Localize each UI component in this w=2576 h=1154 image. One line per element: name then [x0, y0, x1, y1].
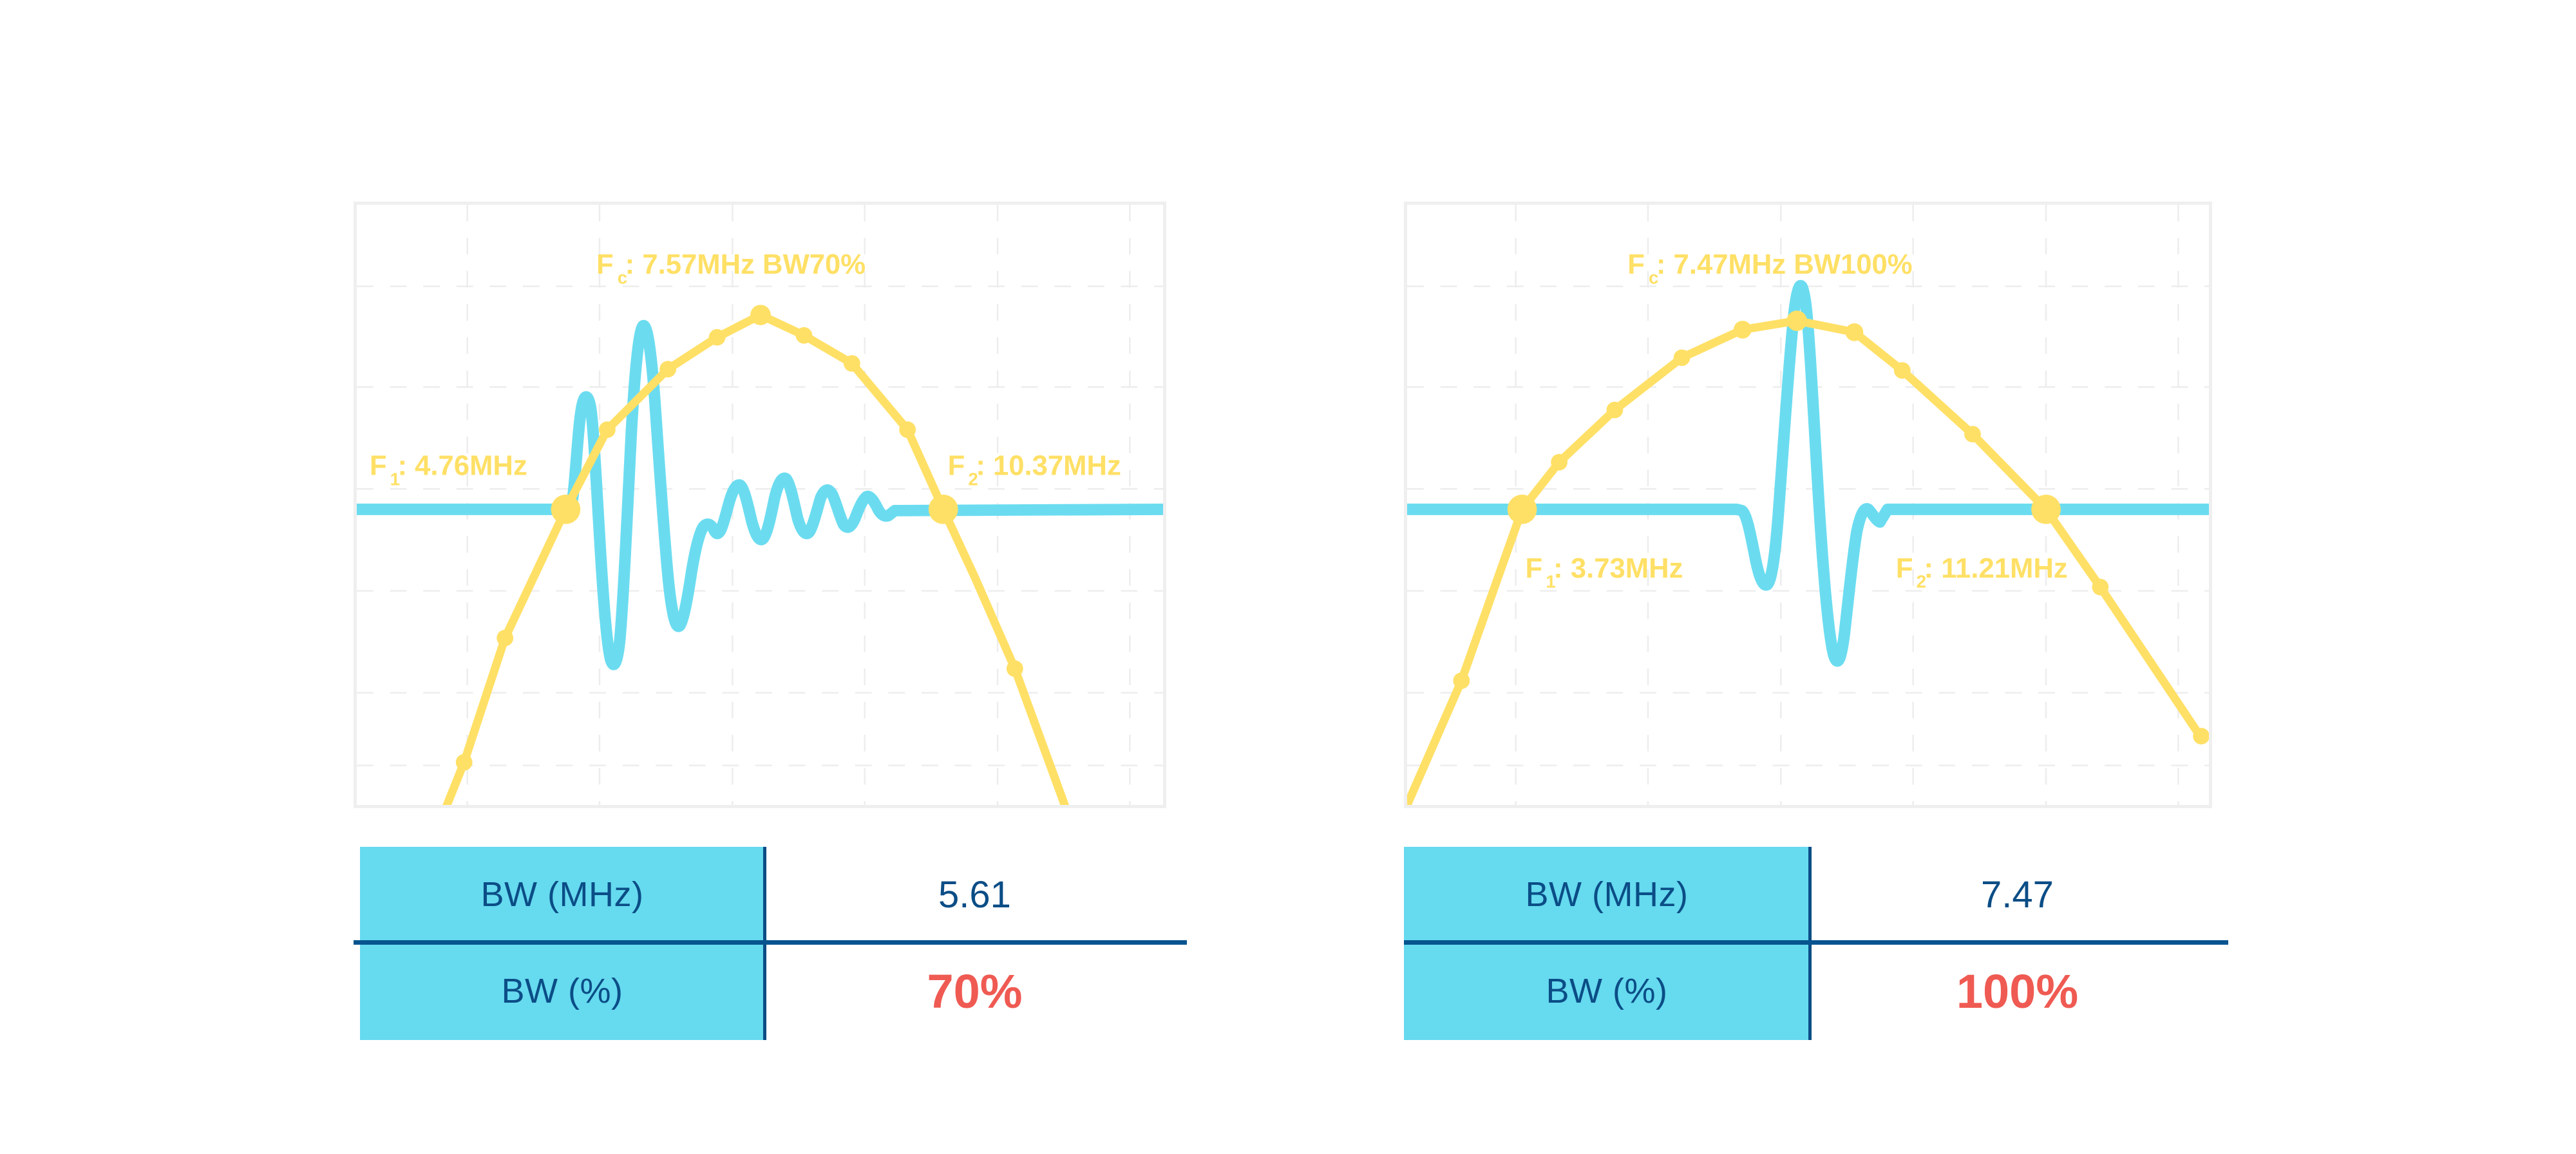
- right-row-value-mhz: 7.47: [1981, 873, 2054, 916]
- right-annotation-f2: F 2 : 11.21MHz: [1896, 553, 2068, 592]
- left-annotation-f1: F 1 : 4.76MHz: [370, 451, 527, 489]
- right-row-label-cell-pct: BW (%): [1404, 942, 1810, 1040]
- left-row-value-cell-pct: 70%: [764, 942, 1185, 1040]
- left-table-row-mhz: BW (MHz) 5.61: [360, 847, 1185, 942]
- left-row-value-mhz: 5.61: [938, 873, 1011, 916]
- right-row-label-pct: BW (%): [1546, 971, 1668, 1011]
- left-fc-text: : 7.57MHz BW70%: [625, 249, 866, 280]
- right-table-horizontal-divider: [1404, 940, 2228, 945]
- left-table-horizontal-divider: [354, 940, 1187, 945]
- left-row-value-pct: 70%: [927, 964, 1022, 1019]
- right-f2-label: F: [1896, 553, 1913, 584]
- left-table-row-pct: BW (%) 70%: [360, 942, 1185, 1040]
- right-fc-text: : 7.47MHz BW100%: [1656, 249, 1913, 280]
- right-f1-label: F: [1526, 553, 1543, 584]
- left-fc-label: F: [596, 249, 614, 280]
- right-row-value-cell-mhz: 7.47: [1810, 847, 2225, 942]
- right-row-value-pct: 100%: [1956, 964, 2078, 1019]
- left-row-value-cell-mhz: 5.61: [764, 847, 1185, 942]
- left-row-label-mhz: BW (MHz): [481, 875, 644, 914]
- left-pulse-waveform: [357, 326, 1163, 665]
- left-row-label-cell-pct: BW (%): [360, 942, 764, 1040]
- left-annotation-center: F c : 7.57MHz BW70%: [596, 249, 866, 288]
- left-f1-text: : 4.76MHz: [397, 451, 527, 482]
- left-f1-label: F: [370, 451, 387, 482]
- left-f2-label: F: [948, 451, 965, 482]
- right-annotation-f1: F 1 : 3.73MHz: [1526, 553, 1683, 592]
- right-row-label-mhz: BW (MHz): [1526, 875, 1689, 914]
- right-pulse-waveform: [1407, 286, 2209, 661]
- left-chart-svg: F c : 7.57MHz BW70% F 1 : 4.76MHz F 2 : …: [357, 205, 1163, 805]
- left-row-label-pct: BW (%): [502, 971, 623, 1011]
- left-row-label-cell-mhz: BW (MHz): [360, 847, 764, 942]
- right-table-row-pct: BW (%) 100%: [1404, 942, 2225, 1040]
- left-spectrum-curve: [432, 315, 1065, 805]
- right-table-row-mhz: BW (MHz) 7.47: [1404, 847, 2225, 942]
- right-annotation-center: F c : 7.47MHz BW100%: [1627, 249, 1912, 288]
- right-chart-svg: F c : 7.47MHz BW100% F 1 : 3.73MHz F 2 :…: [1407, 205, 2209, 805]
- screenshot-stage: F c : 7.57MHz BW70% F 1 : 4.76MHz F 2 : …: [0, 0, 2576, 1154]
- right-chart-panel: F c : 7.47MHz BW100% F 1 : 3.73MHz F 2 :…: [1404, 202, 2212, 808]
- right-row-label-cell-mhz: BW (MHz): [1404, 847, 1810, 942]
- left-spectrum-points: [456, 305, 1023, 770]
- left-f2-text: : 10.37MHz: [976, 451, 1121, 482]
- right-spectrum-points: [1453, 310, 2209, 744]
- right-f2-text: : 11.21MHz: [1924, 553, 2068, 584]
- right-row-value-cell-pct: 100%: [1810, 942, 2225, 1040]
- left-chart-panel: F c : 7.57MHz BW70% F 1 : 4.76MHz F 2 : …: [354, 202, 1166, 808]
- right-f1-text: : 3.73MHz: [1553, 553, 1683, 584]
- left-annotation-f2: F 2 : 10.37MHz: [948, 451, 1121, 489]
- right-fc-label: F: [1627, 249, 1645, 280]
